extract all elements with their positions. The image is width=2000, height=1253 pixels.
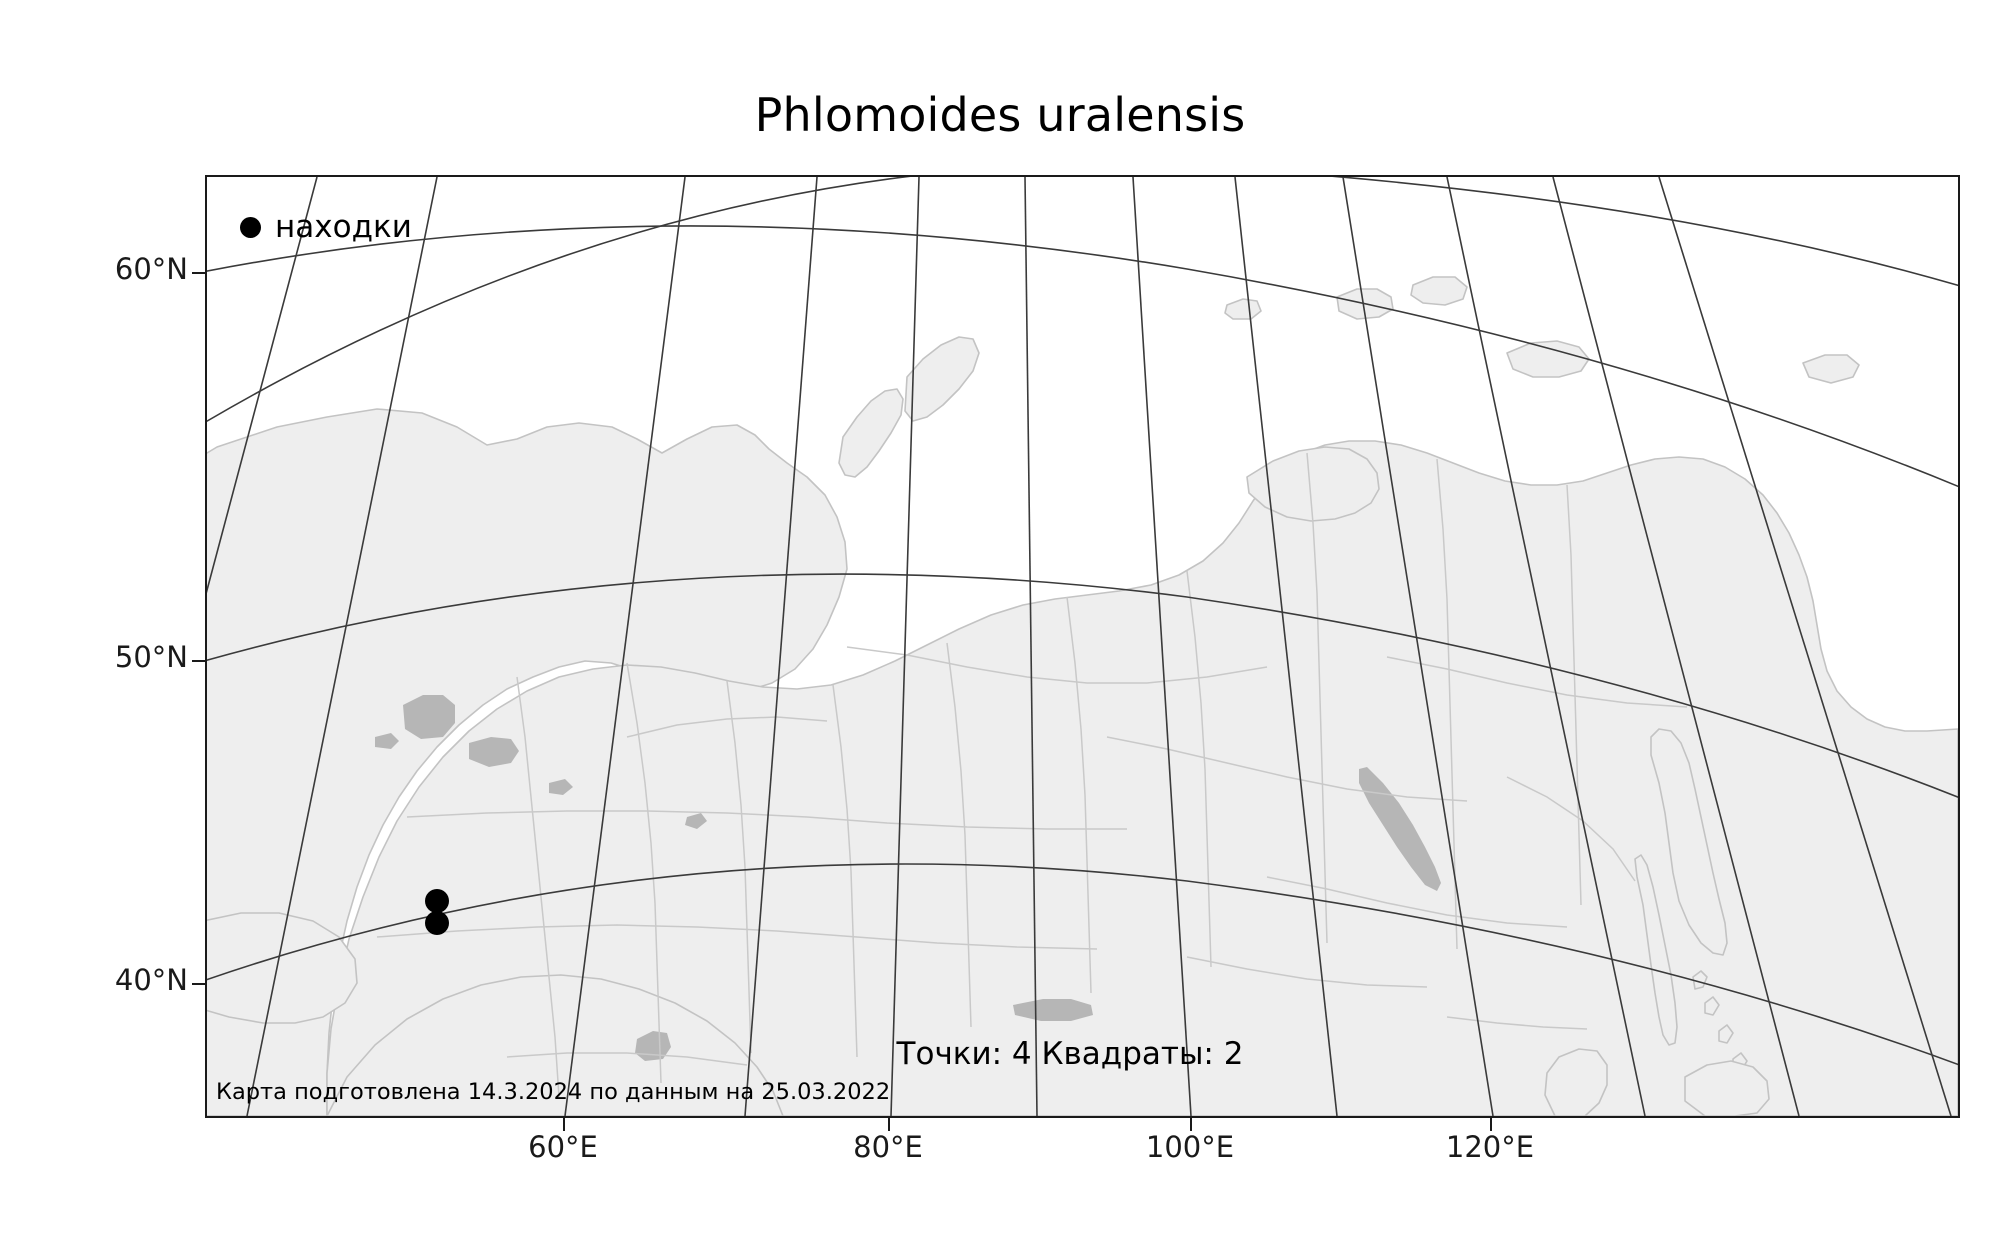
land-wrangel (1803, 355, 1859, 383)
x-tick-label-100e: 100°E (1146, 1130, 1234, 1164)
land-new-siberian-islands (1507, 341, 1589, 377)
credit-line: Карта подготовлена 14.3.2024 по данным н… (216, 1079, 890, 1105)
x-tick-label-80e: 80°E (853, 1130, 923, 1164)
map-graphics (207, 177, 1958, 1116)
y-tick-label-40n: 40°N (115, 963, 188, 997)
y-tick-mark-50n (192, 660, 205, 662)
x-tick-mark-80e (888, 1118, 890, 1131)
land-novaya-zemlya (839, 389, 903, 477)
landmass-layer (207, 277, 1958, 1116)
parallel-70n (207, 177, 1958, 427)
land-arctic-island-3 (1225, 299, 1261, 319)
filled-circle-icon (240, 217, 261, 238)
x-tick-label-60e: 60°E (528, 1130, 598, 1164)
y-tick-label-60n: 60°N (115, 252, 188, 286)
x-tick-mark-100e (1190, 1118, 1192, 1131)
y-tick-mark-60n (192, 272, 205, 274)
land-novaya-zemlya-south (905, 337, 979, 421)
x-tick-mark-60e (563, 1118, 565, 1131)
map-canvas[interactable] (205, 175, 1960, 1118)
counts-caption: Точки: 4 Квадраты: 2 (0, 1036, 2000, 1072)
page-title: Phlomoides uralensis (0, 88, 2000, 142)
x-tick-mark-120e (1490, 1118, 1492, 1131)
land-arctic-island-2 (1411, 277, 1467, 305)
map-page: Phlomoides uralensis 60°N 50°N 40°N 60°E… (0, 0, 2000, 1253)
y-tick-mark-40n (192, 983, 205, 985)
legend: находки (240, 212, 412, 243)
occurrence-point-2[interactable] (425, 911, 449, 935)
legend-label-occurrences: находки (275, 212, 412, 243)
y-tick-label-50n: 50°N (115, 640, 188, 674)
occurrence-point-1[interactable] (425, 889, 449, 913)
x-tick-label-120e: 120°E (1446, 1130, 1534, 1164)
